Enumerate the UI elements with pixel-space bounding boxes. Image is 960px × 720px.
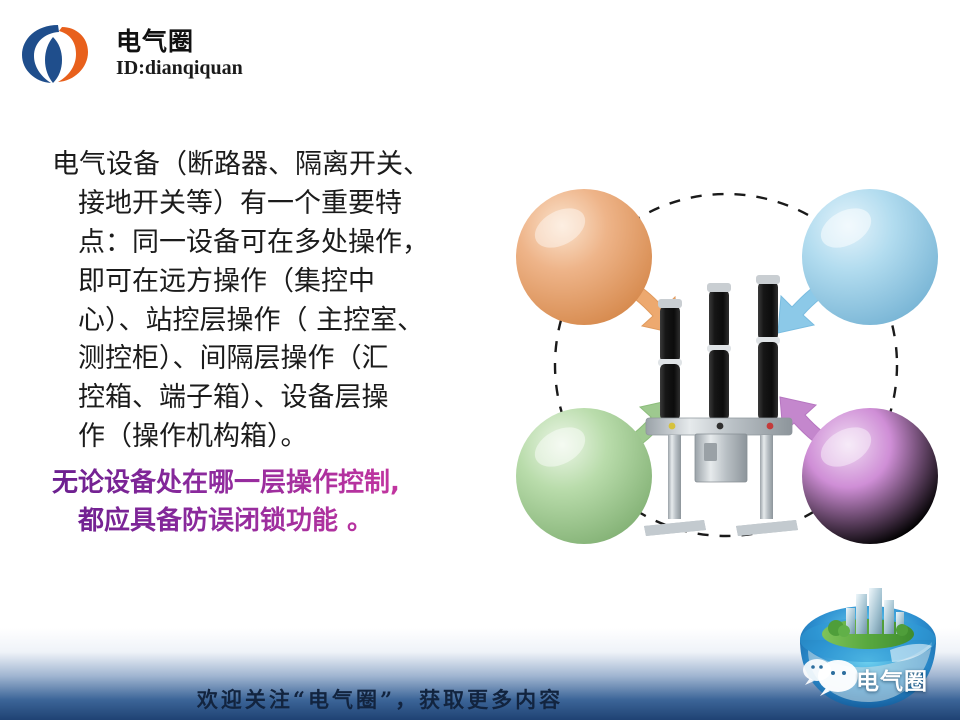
badge-text: 电气圈 — [856, 662, 928, 696]
sphere-bay-operation — [802, 408, 938, 544]
paragraph-line: 心）、站控层操作（ 主控室、 — [52, 302, 522, 341]
brand-text-block: 电气圈 ID:dianqiquan — [116, 29, 243, 78]
paragraph-line: 电气设备（断路器、隔离开关、 — [52, 146, 522, 185]
paragraph-line: 点：同一设备可在多处操作， — [52, 224, 522, 263]
highlight-line: 都应具备防误闭锁功能 。 — [52, 503, 522, 541]
sphere-remote-operation — [516, 189, 652, 325]
paragraph-line: 接地开关等）有一个重要特 — [52, 185, 522, 224]
sphere-station-operation — [802, 189, 938, 325]
main-paragraph: 电气设备（断路器、隔离开关、 接地开关等）有一个重要特 点：同一设备可在多处操作… — [52, 146, 522, 457]
wechat-badge: 电气圈 — [782, 584, 954, 716]
content-text-block: 电气设备（断路器、隔离开关、 接地开关等）有一个重要特 点：同一设备可在多处操作… — [52, 146, 522, 540]
brand-id: ID:dianqiquan — [116, 58, 243, 79]
highlight-line: 无论设备处在哪一层操作控制, — [52, 465, 522, 503]
circuit-breaker-equipment — [644, 275, 798, 536]
slide-canvas: 电气圈 ID:dianqiquan 电气设备（断路器、隔离开关、 接地开关等）有… — [0, 0, 960, 720]
operation-layers-diagram: 远方 操作 站控层 操作 间隔层 操作 设备层 操作 — [492, 158, 960, 578]
paragraph-line: 作（操作机构箱）。 — [52, 418, 522, 457]
dianqiquan-logo-icon — [18, 21, 102, 87]
sphere-device-operation — [516, 408, 652, 544]
highlight-paragraph: 无论设备处在哪一层操作控制, 都应具备防误闭锁功能 。 — [52, 465, 522, 540]
brand-name: 电气圈 — [116, 29, 243, 55]
paragraph-line: 即可在远方操作（集控中 — [52, 263, 522, 302]
paragraph-line: 控箱、端子箱）、设备层操 — [52, 379, 522, 418]
footer-caption: 欢迎关注“电气圈”，获取更多内容 — [0, 684, 760, 714]
paragraph-line: 测控柜）、间隔层操作（汇 — [52, 340, 522, 379]
brand-header: 电气圈 ID:dianqiquan — [18, 14, 348, 94]
